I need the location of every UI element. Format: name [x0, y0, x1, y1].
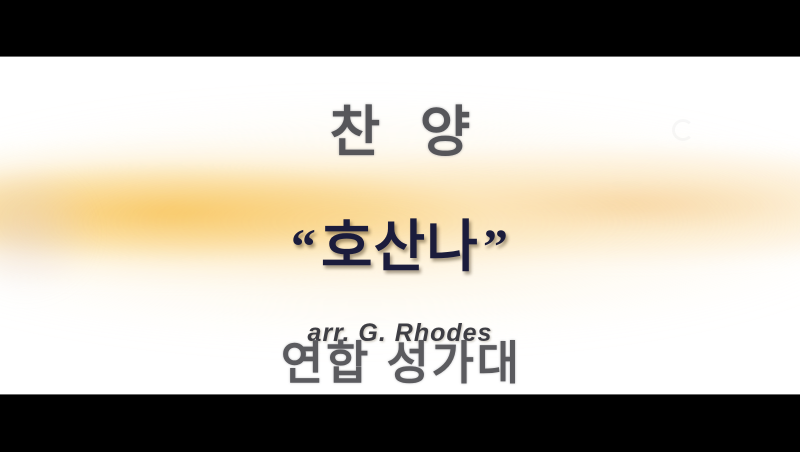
- song-title-text: 호산나: [321, 215, 479, 278]
- opening-quote-mark: “: [291, 218, 317, 274]
- video-title-card: 찬 양 “호산나” arr. G. Rhodes 연합 성가대: [0, 0, 800, 452]
- title-text-stack: 찬 양 “호산나” arr. G. Rhodes 연합 성가대: [0, 57, 800, 394]
- song-title: “호산나”: [0, 202, 800, 283]
- title-slide: 찬 양 “호산나” arr. G. Rhodes 연합 성가대: [0, 57, 800, 394]
- ensemble-name: 연합 성가대: [0, 327, 800, 393]
- program-heading: 찬 양: [0, 87, 800, 167]
- letterbox-bar-top: [0, 0, 800, 57]
- letterbox-bar-bottom: [0, 394, 800, 452]
- closing-quote-mark: ”: [483, 218, 509, 274]
